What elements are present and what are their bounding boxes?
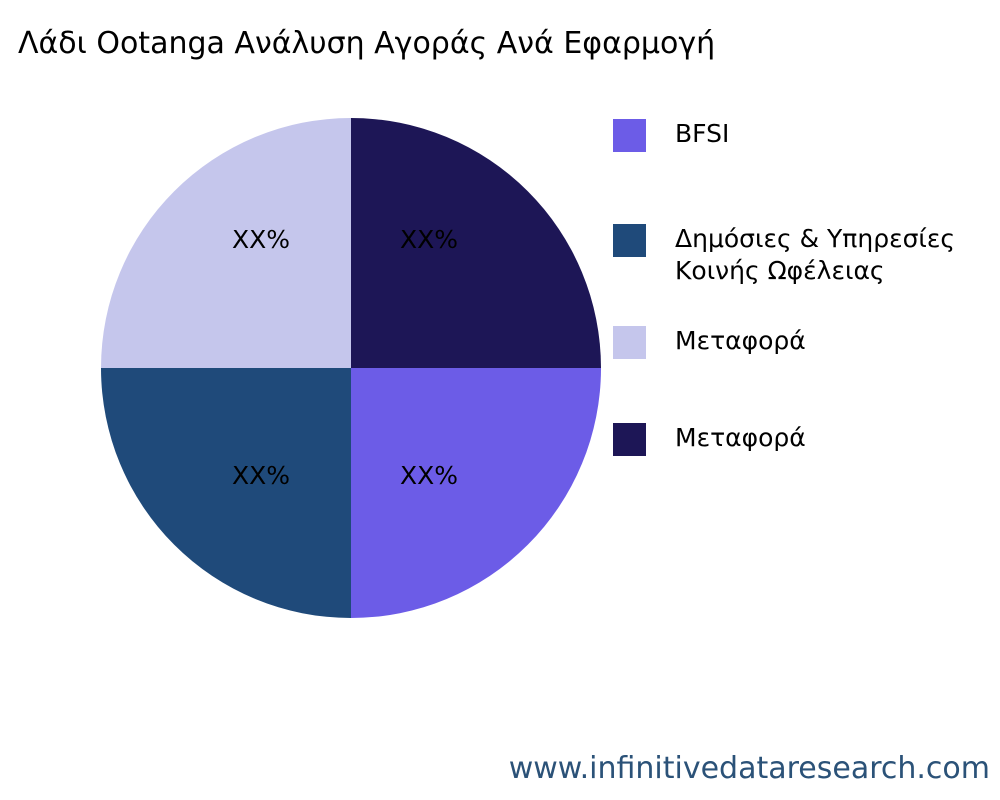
legend-label: Δημόσιες & Υπηρεσίες Κοινής Ωφέλειας xyxy=(675,223,955,287)
legend-label: Μεταφορά xyxy=(675,422,806,454)
pie-slice-top-right[interactable] xyxy=(351,118,601,368)
legend-item-transportation-light[interactable]: Μεταφορά xyxy=(613,325,806,359)
legend-swatch-icon xyxy=(613,119,646,152)
legend-swatch-icon xyxy=(613,423,646,456)
legend-item-transportation-dark[interactable]: Μεταφορά xyxy=(613,422,806,456)
pie-slice-label-top-left: XX% xyxy=(232,225,290,254)
legend-label: Μεταφορά xyxy=(675,325,806,357)
legend-item-government-utilities[interactable]: Δημόσιες & Υπηρεσίες Κοινής Ωφέλειας xyxy=(613,223,955,287)
pie-slice-label-top-right: XX% xyxy=(400,225,458,254)
pie-chart-svg: XX% XX% XX% XX% xyxy=(101,118,601,618)
pie-slice-top-left[interactable] xyxy=(101,118,351,368)
source-website-url[interactable]: www.infinitivedataresearch.com xyxy=(509,751,990,786)
pie-chart: XX% XX% XX% XX% xyxy=(101,118,601,618)
pie-slice-label-bottom-right: XX% xyxy=(400,461,458,490)
page-title: Λάδι Ootanga Ανάλυση Αγοράς Ανά Εφαρμογή xyxy=(18,26,715,62)
legend-item-bfsi[interactable]: BFSI xyxy=(613,118,729,152)
legend-swatch-icon xyxy=(613,326,646,359)
legend-label: BFSI xyxy=(675,118,729,150)
chart-legend: BFSI Δημόσιες & Υπηρεσίες Κοινής Ωφέλεια… xyxy=(613,118,1000,478)
pie-slice-bottom-right[interactable] xyxy=(351,368,601,618)
pie-slice-bottom-left[interactable] xyxy=(101,368,351,618)
legend-swatch-icon xyxy=(613,224,646,257)
pie-slice-label-bottom-left: XX% xyxy=(232,461,290,490)
